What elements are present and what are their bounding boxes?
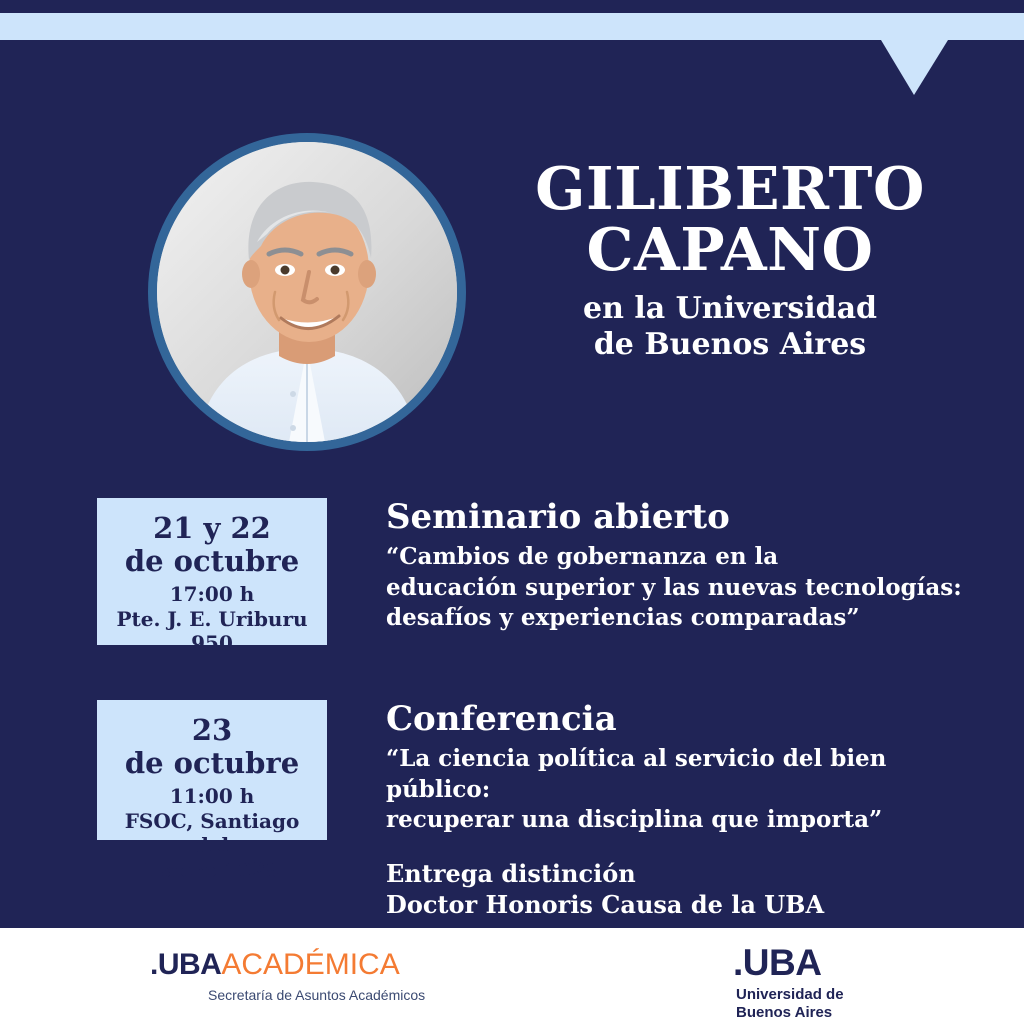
date-box-seminario: 21 y 22 de octubre 17:00 h Pte. J. E. Ur… bbox=[97, 498, 327, 645]
event-extra-line-2: Doctor Honoris Causa de la UBA bbox=[386, 889, 966, 921]
speaker-portrait bbox=[148, 133, 466, 451]
event-extra-line-1: Entrega distinción bbox=[386, 858, 966, 890]
date-place-line-2: Estero 1029 bbox=[105, 858, 319, 882]
date-place-line-1: Pte. J. E. Uriburu 950 bbox=[105, 607, 319, 656]
uba-sublabel-line-2: Buenos Aires bbox=[736, 1004, 844, 1022]
uba-sublabel: Universidad de Buenos Aires bbox=[736, 986, 844, 1022]
uba-logo: .UBA Universidad de Buenos Aires bbox=[733, 944, 844, 1022]
uba-wordmark: .UBA bbox=[150, 948, 221, 981]
uba-academica-logo: .UBAACADÉMICA Secretaría de Asuntos Acad… bbox=[150, 950, 425, 1003]
event-subtitle-line-2: educación superior y las nuevas tecnolog… bbox=[386, 573, 966, 604]
affiliation-line-1: en la Universidad bbox=[520, 291, 940, 328]
event-subtitle-line-1: “Cambios de gobernanza en la bbox=[386, 542, 966, 573]
event-poster: GILIBERTO CAPANO en la Universidad de Bu… bbox=[0, 0, 1024, 1024]
event-title: Conferencia bbox=[386, 700, 966, 738]
top-decorative-band bbox=[0, 13, 1024, 40]
affiliation: en la Universidad de Buenos Aires bbox=[520, 291, 940, 364]
date-box-conferencia: 23 de octubre 11:00 h FSOC, Santiago del… bbox=[97, 700, 327, 840]
academica-wordmark: ACADÉMICA bbox=[221, 948, 399, 981]
date-day: 21 y 22 bbox=[105, 512, 319, 545]
poster-headline: GILIBERTO CAPANO en la Universidad de Bu… bbox=[520, 158, 940, 364]
event-title: Seminario abierto bbox=[386, 498, 966, 536]
date-month: de octubre bbox=[105, 747, 319, 780]
event-subtitle-line-2: recuperar una disciplina que importa” bbox=[386, 805, 966, 836]
chevron-down-icon bbox=[881, 40, 948, 95]
event-subtitle-line-3: desafíos y experiencias comparadas” bbox=[386, 603, 966, 634]
speaker-first-name: GILIBERTO bbox=[520, 158, 940, 219]
uba-academica-lockup: .UBAACADÉMICA bbox=[150, 950, 425, 980]
uba-wordmark: .UBA bbox=[733, 944, 844, 981]
date-time: 17:00 h bbox=[105, 582, 319, 607]
portrait-illustration bbox=[157, 142, 457, 442]
event-body-conferencia: Conferencia “La ciencia política al serv… bbox=[386, 700, 966, 921]
date-time: 11:00 h bbox=[105, 784, 319, 809]
event-subtitle-line-1: “La ciencia política al servicio del bie… bbox=[386, 744, 966, 805]
event-subtitle: “Cambios de gobernanza en la educación s… bbox=[386, 542, 966, 634]
date-day: 23 bbox=[105, 714, 319, 747]
event-extra: Entrega distinción Doctor Honoris Causa … bbox=[386, 858, 966, 921]
academica-tagline: Secretaría de Asuntos Académicos bbox=[208, 987, 425, 1003]
date-month: de octubre bbox=[105, 545, 319, 578]
date-place-line-1: FSOC, Santiago del bbox=[105, 809, 319, 858]
affiliation-line-2: de Buenos Aires bbox=[520, 327, 940, 364]
event-subtitle: “La ciencia política al servicio del bie… bbox=[386, 744, 966, 836]
event-body-seminario: Seminario abierto “Cambios de gobernanza… bbox=[386, 498, 966, 634]
footer: .UBAACADÉMICA Secretaría de Asuntos Acad… bbox=[0, 928, 1024, 1024]
speaker-last-name: CAPANO bbox=[520, 219, 940, 280]
uba-sublabel-line-1: Universidad de bbox=[736, 986, 844, 1004]
